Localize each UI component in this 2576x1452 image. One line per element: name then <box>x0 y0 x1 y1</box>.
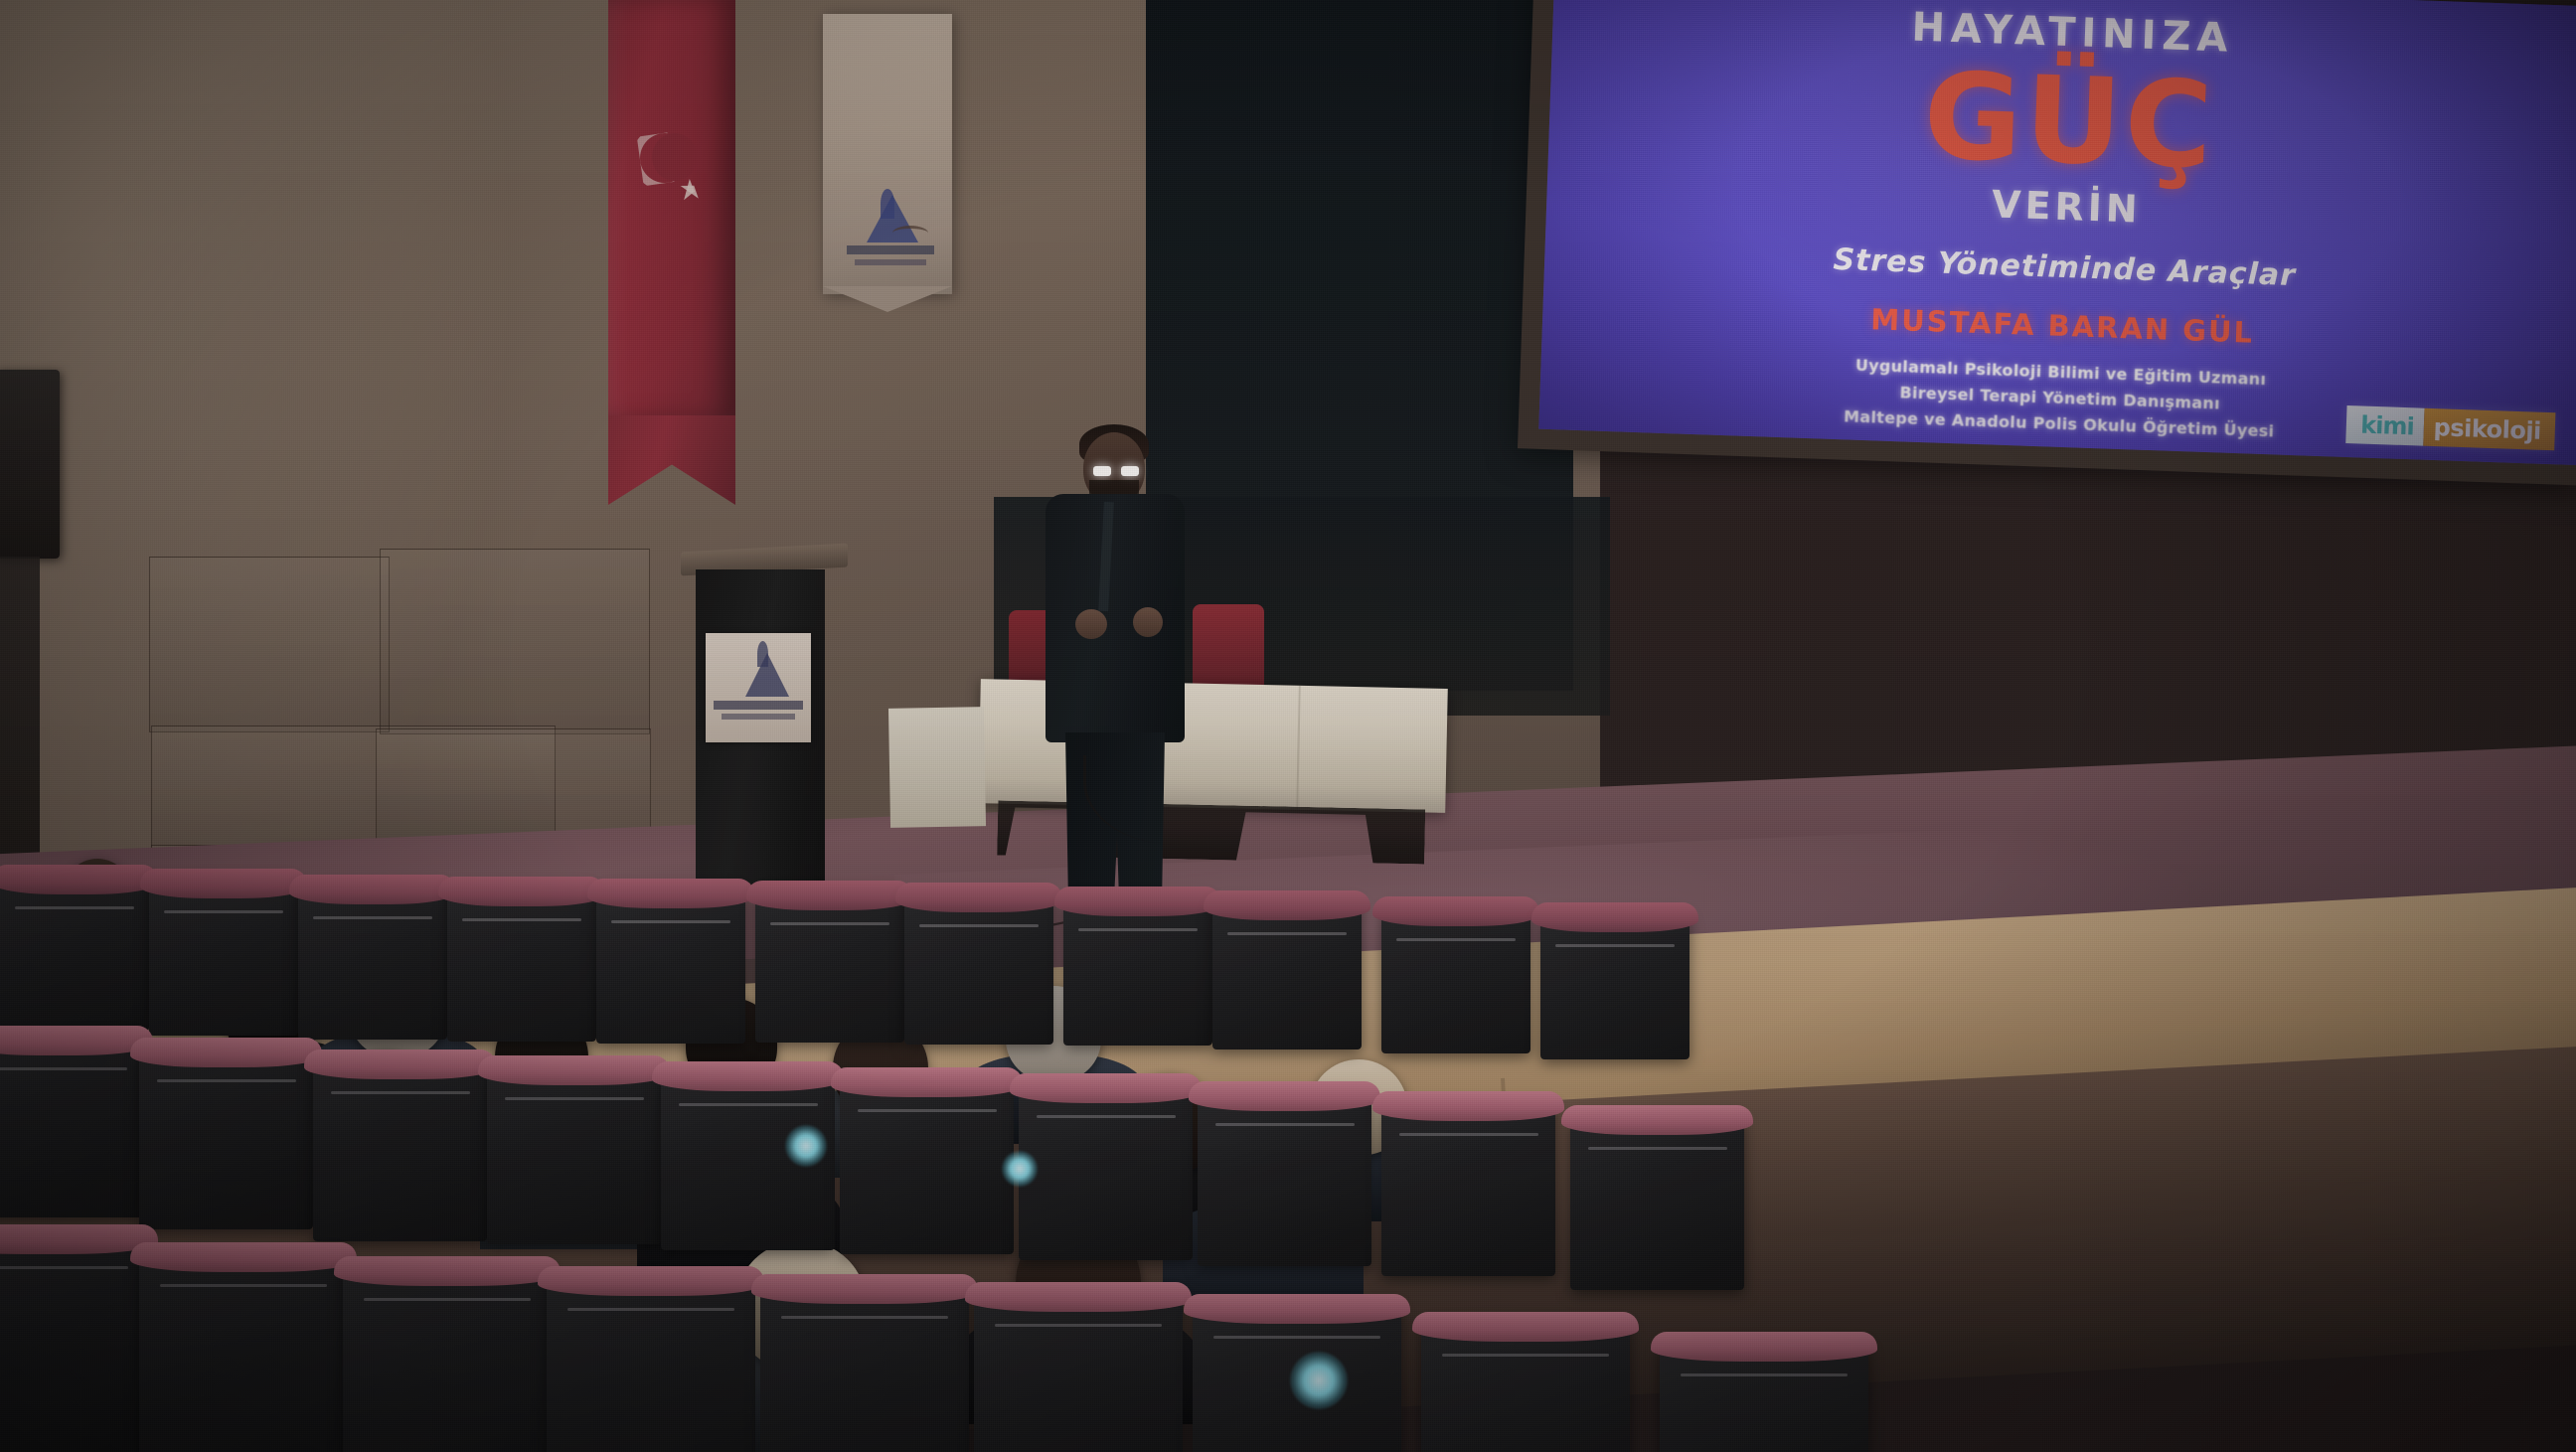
podium-org-name <box>714 701 803 710</box>
glasses-icon <box>1121 466 1139 476</box>
peak-icon <box>757 641 768 667</box>
audience-seat <box>298 883 447 1040</box>
presenter-hand <box>1075 609 1107 639</box>
audience-seat <box>596 887 745 1044</box>
wave-icon <box>892 226 928 241</box>
podium <box>696 562 825 904</box>
audience-seat <box>1212 898 1362 1049</box>
flag-field <box>608 0 735 421</box>
wall-panel <box>149 557 390 732</box>
audience-seat <box>313 1057 487 1241</box>
wall-speaker-stand <box>0 557 40 855</box>
banner-org-sub <box>855 259 926 265</box>
audience-seat <box>139 1046 313 1229</box>
screen-vignette <box>1538 0 2576 465</box>
audience-seat <box>447 885 596 1042</box>
wall-panel <box>380 549 650 734</box>
peak-icon <box>881 189 894 219</box>
light-flare <box>1290 1352 1348 1409</box>
audience-seat <box>149 877 298 1036</box>
audience-seat <box>1570 1113 1744 1290</box>
audience-seat <box>1660 1340 1868 1452</box>
audience-seat <box>0 873 149 1032</box>
audience-seat <box>840 1075 1014 1254</box>
audience-area <box>0 865 1988 1452</box>
audience-seat <box>547 1274 755 1452</box>
audience-seat <box>0 1034 144 1217</box>
presenter-suit-jacket <box>1046 494 1185 742</box>
audience-seat <box>1421 1320 1630 1452</box>
projection-screen: HAYATINIZA GÜÇ VERİN Stres Yönetiminde A… <box>1538 0 2576 465</box>
wall-speaker-icon <box>0 370 60 559</box>
audience-seat <box>1198 1089 1371 1266</box>
kartepe-logo-icon <box>841 187 934 260</box>
light-flare <box>1002 1151 1038 1187</box>
audience-seat <box>0 1232 149 1452</box>
podium-org-sub <box>722 714 795 720</box>
auditorium-photo: HAYATINIZA GÜÇ VERİN Stres Yönetiminde A… <box>0 0 2576 1452</box>
audience-seat <box>1381 1099 1555 1276</box>
audience-seat <box>904 890 1053 1045</box>
podium-logo-plate <box>706 633 811 742</box>
audience-seat <box>1019 1081 1193 1260</box>
audience-seat <box>1063 894 1212 1046</box>
audience-seat <box>1540 910 1690 1059</box>
audience-seat <box>343 1264 552 1452</box>
tablecloth-left-section <box>888 707 986 828</box>
glasses-icon <box>1093 466 1111 476</box>
stage-chair <box>1193 604 1264 688</box>
audience-seat <box>755 888 904 1043</box>
audience-seat <box>487 1063 661 1244</box>
kartepe-banner <box>823 14 952 294</box>
banner-org-name <box>847 245 934 254</box>
crescent-mask <box>652 133 698 181</box>
turkish-flag <box>608 0 735 491</box>
audience-seat <box>139 1250 348 1452</box>
light-flare <box>785 1125 827 1167</box>
audience-seat <box>974 1290 1183 1452</box>
presenter-hand <box>1133 607 1163 637</box>
audience-seat <box>1381 904 1530 1053</box>
audience-seat <box>760 1282 969 1452</box>
